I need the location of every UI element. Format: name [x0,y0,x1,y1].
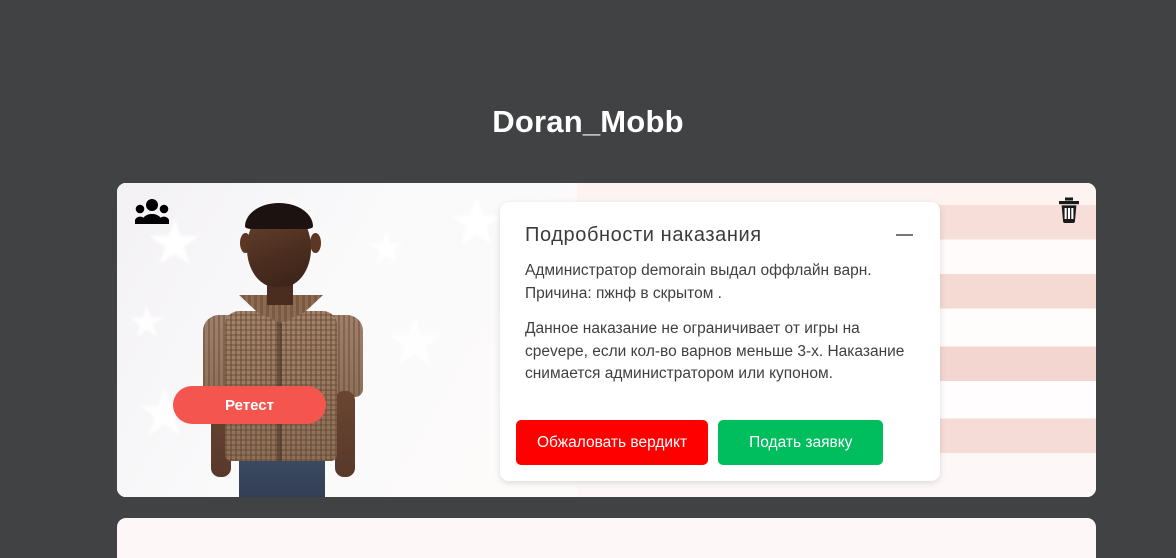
flag-star-icon: ★ [447,189,506,255]
punishment-details-panel: Подробности наказания Администратор demo… [500,202,940,481]
page-title: Doran_Mobb [0,0,1176,141]
details-paragraph-2: Данное наказание не ограничивает от игры… [525,318,915,386]
avatar-hair [245,203,313,229]
avatar-arm-right [335,391,355,477]
details-actions: Обжаловать вердикт Подать заявку [516,420,883,465]
appeal-verdict-button[interactable]: Обжаловать вердикт [516,420,708,465]
details-header: Подробности наказания [525,222,915,248]
details-body: Администратор demorain выдал оффлайн вар… [525,260,915,386]
next-punishment-card[interactable] [117,518,1096,558]
retest-button[interactable]: Ретест [173,386,326,424]
minus-icon[interactable] [893,224,915,246]
player-avatar-render [177,203,422,497]
people-group-icon[interactable] [135,198,169,224]
avatar-ear-right [310,233,321,253]
punishment-card: ★ ★ ★ ★ ★ ★ ★ ★ ★ [117,183,1096,497]
details-paragraph-1: Администратор demorain выдал оффлайн вар… [525,260,915,305]
flag-star-icon: ★ [127,301,166,345]
delete-icon[interactable] [1058,197,1080,223]
details-title: Подробности наказания [525,222,762,248]
submit-request-button[interactable]: Подать заявку [718,420,883,465]
avatar-legs [239,455,325,497]
